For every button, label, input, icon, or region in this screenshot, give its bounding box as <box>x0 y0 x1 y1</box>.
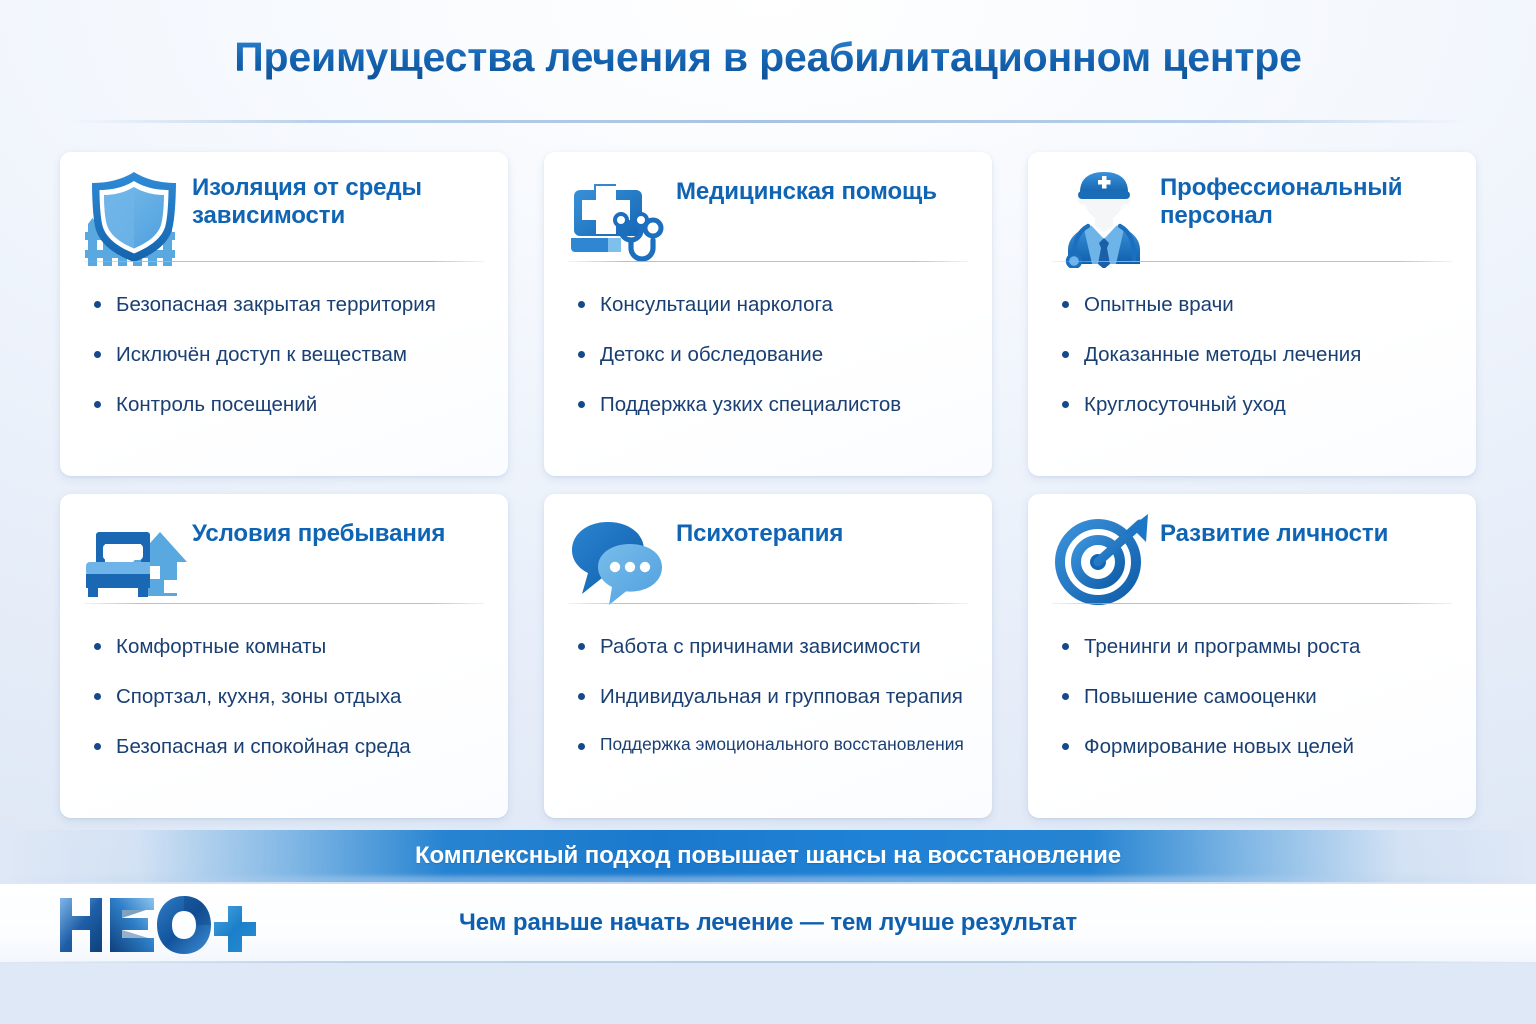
list-item-label: Поддержка эмоционального восстановления <box>600 734 964 754</box>
bullet-dot-icon <box>578 643 585 650</box>
bullet-list: Комфортные комнаты Спортзал, кухня, зоны… <box>90 634 488 759</box>
list-item: Работа с причинами зависимости <box>574 634 972 659</box>
card-header-divider <box>1052 603 1452 604</box>
list-item-label: Тренинги и программы роста <box>1084 635 1360 658</box>
list-item: Комфортные комнаты <box>90 634 488 659</box>
benefit-card-living-conditions[interactable]: Условия пребывания Комфортные комнаты Сп… <box>60 494 508 818</box>
card-title: Профессиональный персонал <box>1160 174 1454 231</box>
list-item-label: Консультации нарколога <box>600 293 833 316</box>
bullet-dot-icon <box>94 693 101 700</box>
bullet-dot-icon <box>1062 351 1069 358</box>
benefit-card-professional-staff[interactable]: Профессиональный персонал Опытные врачи … <box>1028 152 1476 476</box>
bullet-dot-icon <box>94 643 101 650</box>
summary-banner: Комплексный подход повышает шансы на вос… <box>0 830 1536 882</box>
benefits-grid: Изоляция от среды зависимости Безопасная… <box>60 152 1476 818</box>
list-item-label: Комфортные комнаты <box>116 635 326 658</box>
list-item: Круглосуточный уход <box>1058 392 1456 417</box>
list-item-label: Исключён доступ к веществам <box>116 343 407 366</box>
card-header-divider <box>1052 261 1452 262</box>
bullet-dot-icon <box>578 351 585 358</box>
list-item-label: Безопасная закрытая территория <box>116 293 436 316</box>
bullet-list: Безопасная закрытая территория Исключён … <box>90 292 488 417</box>
page-title: Преимущества лечения в реабилитационном … <box>234 34 1302 81</box>
benefit-card-personal-growth[interactable]: Развитие личности Тренинги и программы р… <box>1028 494 1476 818</box>
card-header-divider <box>568 603 968 604</box>
list-item: Доказанные методы лечения <box>1058 342 1456 367</box>
card-header: Профессиональный персонал <box>1028 152 1476 280</box>
footer-divider <box>0 961 1536 963</box>
list-item: Повышение самооценки <box>1058 684 1456 709</box>
bullet-dot-icon <box>1062 643 1069 650</box>
card-title: Психотерапия <box>676 520 970 548</box>
bullet-dot-icon <box>1062 693 1069 700</box>
list-item: Детокс и обследование <box>574 342 972 367</box>
card-header: Развитие личности <box>1028 494 1476 622</box>
speech-bubbles-icon <box>568 510 672 610</box>
card-header-divider <box>568 261 968 262</box>
card-title: Медицинская помощь <box>676 178 970 206</box>
bullet-dot-icon <box>1062 301 1069 308</box>
list-item-label: Работа с причинами зависимости <box>600 635 921 658</box>
list-item: Индивидуальная и групповая терапия <box>574 684 972 709</box>
list-item-label: Формирование новых целей <box>1084 735 1354 758</box>
shield-fence-icon <box>84 168 188 268</box>
card-header: Изоляция от среды зависимости <box>60 152 508 280</box>
list-item: Консультации нарколога <box>574 292 972 317</box>
bullet-dot-icon <box>94 743 101 750</box>
benefit-card-isolation[interactable]: Изоляция от среды зависимости Безопасная… <box>60 152 508 476</box>
list-item: Тренинги и программы роста <box>1058 634 1456 659</box>
page-title-container: Преимущества лечения в реабилитационном … <box>0 34 1536 81</box>
medical-kit-stethoscope-icon <box>568 168 672 268</box>
bullet-list: Консультации нарколога Детокс и обследов… <box>574 292 972 417</box>
card-header: Условия пребывания <box>60 494 508 622</box>
doctor-icon <box>1052 168 1156 268</box>
bullet-dot-icon <box>94 401 101 408</box>
summary-banner-text: Комплексный подход повышает шансы на вос… <box>415 842 1121 870</box>
list-item-label: Доказанные методы лечения <box>1084 343 1361 366</box>
card-title: Развитие личности <box>1160 520 1454 548</box>
list-item-label: Поддержка узких специалистов <box>600 393 901 416</box>
bullet-list: Тренинги и программы роста Повышение сам… <box>1058 634 1456 759</box>
list-item: Поддержка эмоционального восстановления <box>574 734 972 755</box>
benefit-card-psychotherapy[interactable]: Психотерапия Работа с причинами зависимо… <box>544 494 992 818</box>
list-item-label: Спортзал, кухня, зоны отдыха <box>116 685 401 708</box>
bullet-dot-icon <box>1062 743 1069 750</box>
list-item: Опытные врачи <box>1058 292 1456 317</box>
list-item-label: Детокс и обследование <box>600 343 823 366</box>
card-header-divider <box>84 261 484 262</box>
bullet-dot-icon <box>578 401 585 408</box>
list-item: Формирование новых целей <box>1058 734 1456 759</box>
card-title: Условия пребывания <box>192 520 486 548</box>
list-item-label: Опытные врачи <box>1084 293 1234 316</box>
card-header: Психотерапия <box>544 494 992 622</box>
bullet-dot-icon <box>578 301 585 308</box>
card-header: Медицинская помощь <box>544 152 992 280</box>
list-item-label: Безопасная и спокойная среда <box>116 735 411 758</box>
bullet-dot-icon <box>578 693 585 700</box>
bullet-dot-icon <box>578 743 585 750</box>
list-item: Спортзал, кухня, зоны отдыха <box>90 684 488 709</box>
list-item: Исключён доступ к веществам <box>90 342 488 367</box>
bed-house-icon <box>84 510 188 610</box>
list-item-label: Индивидуальная и групповая терапия <box>600 685 963 708</box>
benefit-card-medical-help[interactable]: Медицинская помощь Консультации нарколог… <box>544 152 992 476</box>
list-item: Поддержка узких специалистов <box>574 392 972 417</box>
list-item: Безопасная закрытая территория <box>90 292 488 317</box>
bullet-list: Работа с причинами зависимости Индивидуа… <box>574 634 972 755</box>
bullet-dot-icon <box>94 351 101 358</box>
infographic-root: Преимущества лечения в реабилитационном … <box>0 0 1536 1024</box>
bullet-dot-icon <box>94 301 101 308</box>
list-item: Контроль посещений <box>90 392 488 417</box>
bullet-list: Опытные врачи Доказанные методы лечения … <box>1058 292 1456 417</box>
title-divider <box>70 120 1466 123</box>
list-item: Безопасная и спокойная среда <box>90 734 488 759</box>
target-arrow-icon <box>1052 510 1156 610</box>
brand-logo[interactable] <box>56 892 256 960</box>
card-title: Изоляция от среды зависимости <box>192 174 486 231</box>
card-header-divider <box>84 603 484 604</box>
list-item-label: Круглосуточный уход <box>1084 393 1286 416</box>
list-item-label: Контроль посещений <box>116 393 317 416</box>
list-item-label: Повышение самооценки <box>1084 685 1317 708</box>
bullet-dot-icon <box>1062 401 1069 408</box>
